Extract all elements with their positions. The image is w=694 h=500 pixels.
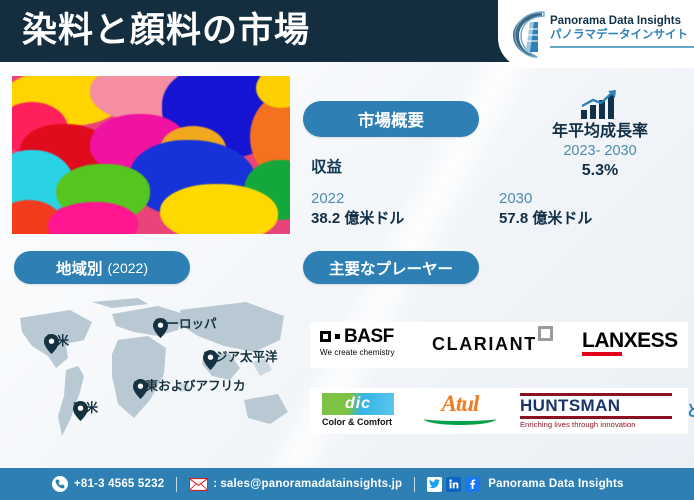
lanxess-name: LANXESS	[582, 330, 678, 351]
huntsman-tagline: Enriching lives through innovation	[520, 420, 672, 429]
dic-tagline: Color & Comfort	[322, 417, 394, 427]
revenue-2022-year: 2022	[311, 189, 404, 209]
cagr-range: 2023- 2030	[520, 142, 680, 161]
badge-regional-year: (2022)	[108, 260, 148, 276]
brand-logo[interactable]: Panorama Data Insights パノラマデータインサイト	[508, 6, 694, 62]
key-players-row-1: BASF We create chemistry CLARIANT LANXES…	[310, 322, 688, 368]
footer-divider-2	[414, 477, 415, 492]
revenue-2030-value: 57.8 億米ドル	[499, 209, 592, 229]
revenue-2030-year: 2030	[499, 189, 592, 209]
logo-name-en: Panorama Data Insights	[550, 14, 694, 28]
huntsman-name: HUNTSMAN	[520, 396, 672, 415]
footer-brand: Panorama Data Insights	[488, 478, 623, 490]
revenue-label: 収益	[311, 155, 342, 177]
map-pin-icon	[203, 350, 218, 370]
logo-name-jp: パノラマデータインサイト	[550, 28, 694, 43]
map-pin-icon	[73, 401, 88, 421]
badge-market-overview[interactable]: 市場概要	[303, 101, 479, 137]
cagr-value: 5.3%	[520, 161, 680, 181]
page-footer: +81-3 4565 5232 : sales@panoramadatainsi…	[0, 468, 694, 500]
cagr-block: 年平均成長率 2023- 2030 5.3%	[520, 88, 680, 181]
logo-underline	[550, 46, 694, 48]
map-pin-icon	[133, 379, 148, 399]
huntsman-bottom-rule	[520, 416, 672, 419]
phone-icon	[52, 476, 68, 492]
basf-dot-icon	[335, 334, 340, 339]
logo-text: Panorama Data Insights パノラマデータインサイト	[550, 14, 694, 43]
footer-email-text: sales@panoramadatainsights.jp	[220, 478, 402, 490]
footer-phone[interactable]: +81-3 4565 5232	[52, 476, 164, 492]
dic-name: dic	[322, 393, 394, 415]
badge-key-players[interactable]: 主要なプレーヤー	[303, 251, 479, 284]
twitter-icon[interactable]	[427, 477, 442, 492]
map-marker-europe[interactable]: ヨーロッパ	[153, 318, 217, 331]
facebook-icon[interactable]	[465, 477, 480, 492]
logo-dic[interactable]: dic Color & Comfort	[322, 393, 394, 427]
email-icon	[189, 478, 208, 491]
world-map: 北米 ヨーロッパ アジア太平洋 中東およびアフリカ	[8, 296, 298, 456]
clariant-name: CLARIANT	[432, 335, 537, 353]
others-label: とその地	[686, 399, 694, 421]
logo-clariant[interactable]: CLARIANT	[432, 335, 553, 353]
revenue-2022: 2022 38.2 億米ドル	[311, 189, 404, 229]
footer-divider	[176, 477, 177, 492]
linkedin-icon[interactable]	[446, 477, 461, 492]
logo-huntsman[interactable]: HUNTSMAN Enriching lives through innovat…	[520, 393, 672, 429]
badge-regional[interactable]: 地域別 (2022)	[14, 251, 190, 284]
logo-atul[interactable]: Atul	[420, 392, 500, 425]
map-marker-south-america[interactable]: 南米	[73, 401, 98, 415]
footer-email[interactable]: : sales@panoramadatainsights.jp	[189, 478, 402, 491]
basf-tagline: We create chemistry	[320, 348, 395, 357]
map-pin-icon	[153, 318, 168, 338]
badge-market-overview-label: 市場概要	[358, 107, 424, 131]
revenue-2022-value: 38.2 億米ドル	[311, 209, 404, 229]
map-label-middle-east-africa: 中東およびアフリカ	[133, 380, 246, 393]
map-marker-north-america[interactable]: 北米	[44, 334, 69, 348]
revenue-2030: 2030 57.8 億米ドル	[499, 189, 592, 229]
logo-lanxess[interactable]: LANXESS	[582, 330, 678, 356]
key-players-row-2: dic Color & Comfort Atul HUNTSMAN Enrich…	[310, 388, 688, 434]
badge-key-players-label: 主要なプレーヤー	[329, 257, 453, 279]
pigment-powder-photo	[12, 76, 290, 234]
map-marker-asia-pacific[interactable]: アジア太平洋	[203, 350, 278, 364]
dic-blocks-icon: dic	[322, 393, 394, 415]
footer-phone-text: +81-3 4565 5232	[74, 478, 164, 490]
basf-square-icon	[320, 331, 331, 342]
clariant-square-icon	[538, 326, 553, 341]
growth-chart-icon	[520, 88, 680, 120]
map-pin-icon	[44, 334, 59, 354]
page-header: 染料と顔料の市場 Panorama Data Insights パノラマデータイ…	[0, 0, 694, 62]
cagr-title: 年平均成長率	[520, 122, 680, 142]
footer-social: Panorama Data Insights	[427, 477, 623, 492]
basf-name: BASF	[344, 327, 394, 346]
infographic-page: 染料と顔料の市場 Panorama Data Insights パノラマデータイ…	[0, 0, 694, 500]
badge-regional-label: 地域別	[56, 257, 103, 279]
footer-email-colon: :	[213, 478, 217, 490]
page-title: 染料と顔料の市場	[22, 5, 310, 57]
logo-plate: Panorama Data Insights パノラマデータインサイト	[498, 0, 694, 68]
logo-basf[interactable]: BASF We create chemistry	[320, 327, 395, 357]
map-marker-middle-east-africa[interactable]: 中東およびアフリカ	[133, 379, 246, 393]
lanxess-red-bar	[582, 352, 622, 356]
